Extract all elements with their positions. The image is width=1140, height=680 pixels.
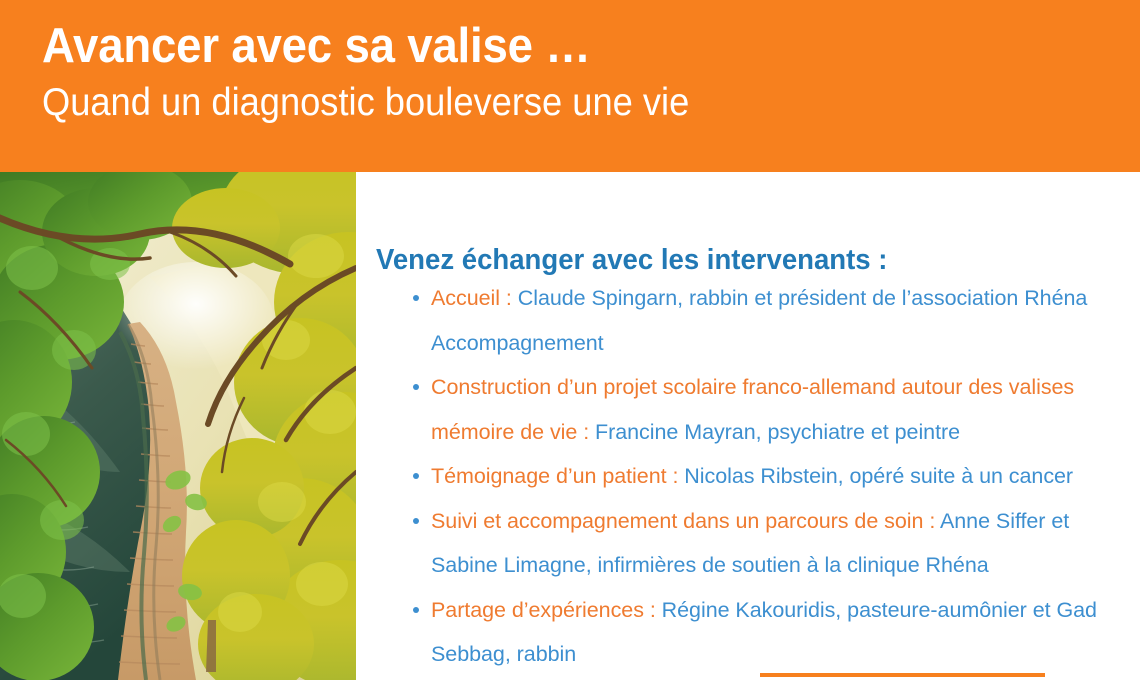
list-item-rest: Nicolas Ribstein, opéré suite à un cance… xyxy=(678,464,1073,488)
boardwalk-river-photo xyxy=(0,172,356,680)
content-panel: Venez échanger avec les intervenants : A… xyxy=(376,172,1140,680)
page-subtitle: Quand un diagnostic bouleverse une vie xyxy=(42,78,1063,128)
list-item-lead: Partage d’expériences : xyxy=(431,598,656,622)
list-item-rest: Francine Mayran, psychiatre et peintre xyxy=(589,420,960,444)
header-banner: Avancer avec sa valise … Quand un diagno… xyxy=(0,0,1140,172)
list-item: Construction d’un projet scolaire franco… xyxy=(406,365,1126,454)
bottom-accent-rule xyxy=(760,673,1045,677)
bullet-dot-icon xyxy=(413,295,419,301)
list-item-lead: Témoignage d’un patient : xyxy=(431,464,678,488)
list-item: Suivi et accompagnement dans un parcours… xyxy=(406,499,1126,588)
list-item-rest: Claude Spingarn, rabbin et président de … xyxy=(431,286,1087,355)
bullet-dot-icon xyxy=(413,384,419,390)
content-heading: Venez échanger avec les intervenants : xyxy=(376,243,887,277)
list-item: Témoignage d’un patient : Nicolas Ribste… xyxy=(406,454,1126,499)
list-item-lead: Suivi et accompagnement dans un parcours… xyxy=(431,509,935,533)
page-title: Avancer avec sa valise … xyxy=(42,16,1063,76)
photo-illustration xyxy=(0,172,356,680)
bullet-dot-icon xyxy=(413,518,419,524)
speakers-list: Accueil : Claude Spingarn, rabbin et pré… xyxy=(406,276,1126,677)
list-item: Accueil : Claude Spingarn, rabbin et pré… xyxy=(406,276,1126,365)
list-item: Partage d’expériences : Régine Kakouridi… xyxy=(406,588,1126,677)
bullet-dot-icon xyxy=(413,607,419,613)
bullet-dot-icon xyxy=(413,473,419,479)
list-item-lead: Accueil : xyxy=(431,286,512,310)
